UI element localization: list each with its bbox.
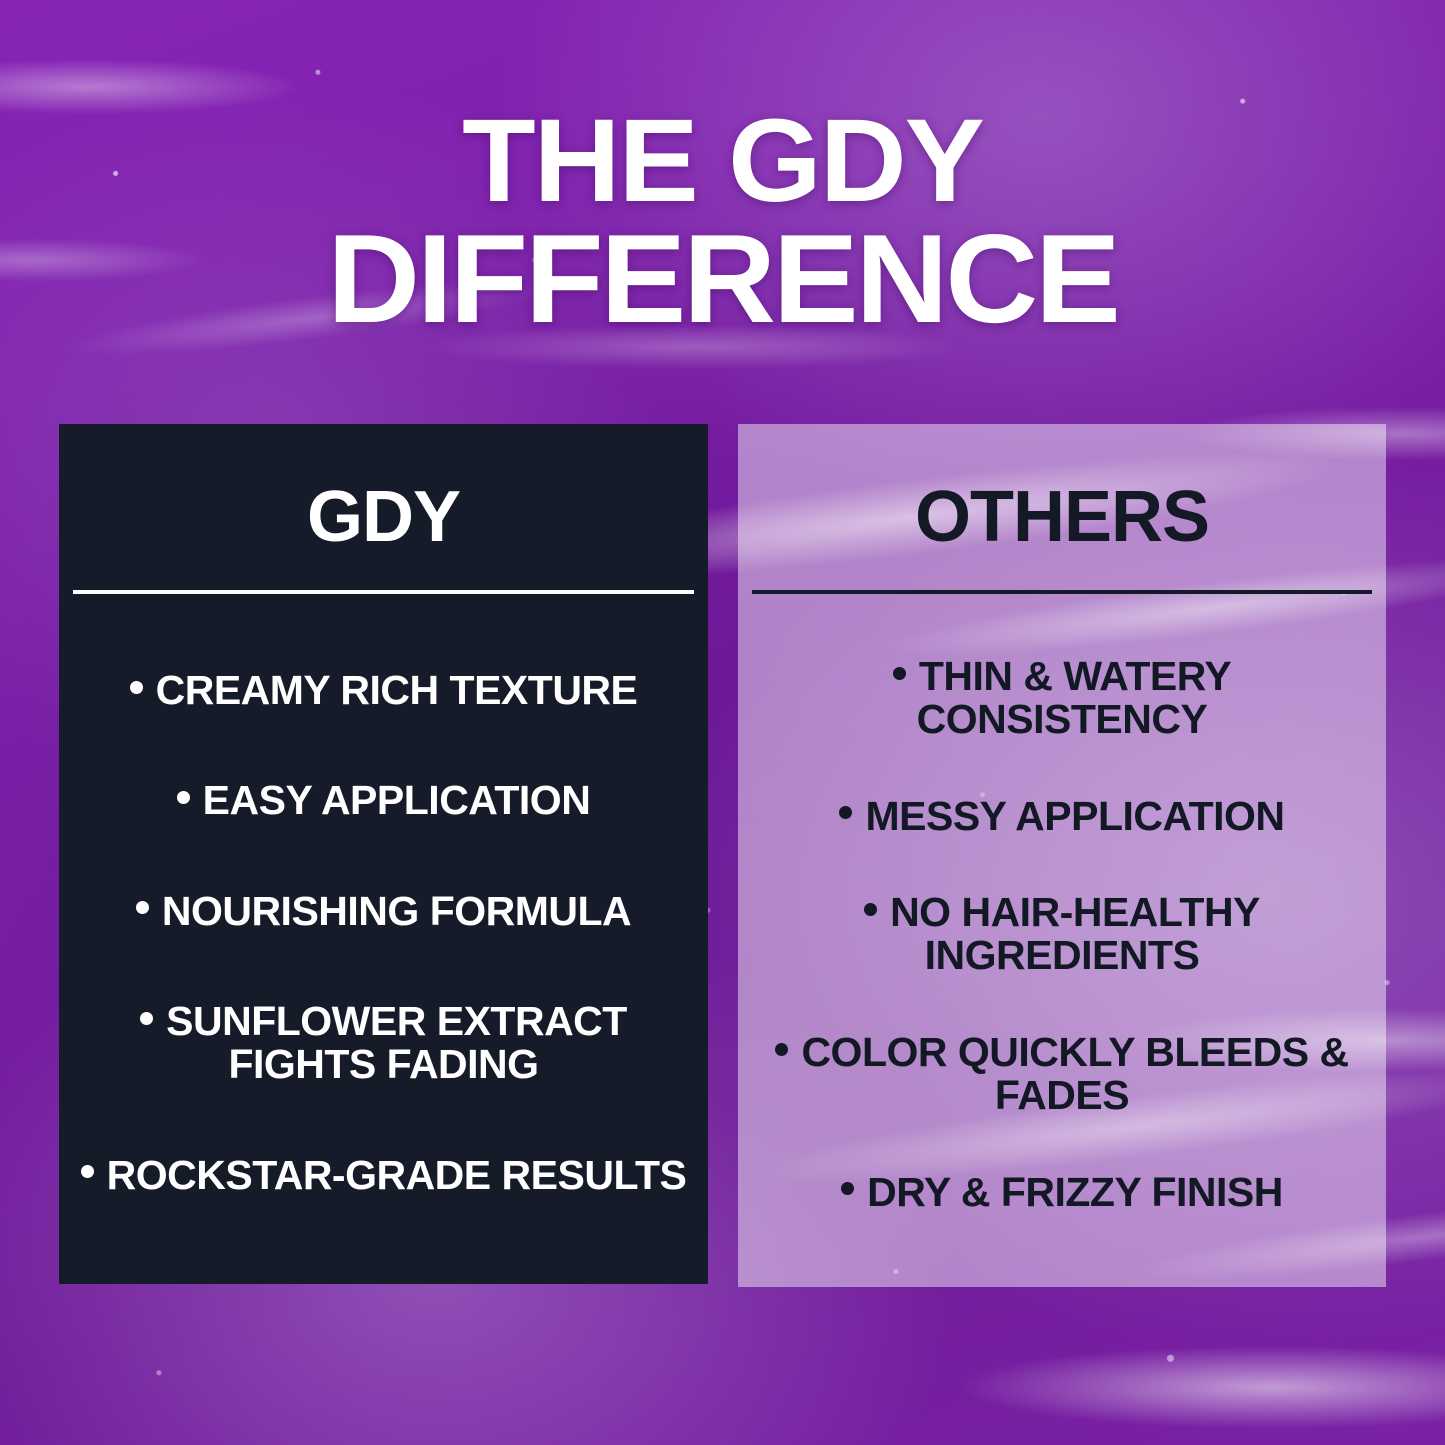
- list-item-label: CREAMY RICH TEXTURE: [156, 667, 638, 713]
- panel-title-gdy: GDY: [73, 476, 694, 558]
- page-title: THE GDY DIFFERENCE: [0, 104, 1445, 341]
- bullet-dot-icon: [130, 681, 143, 694]
- list-item-label: NO HAIR-HEALTHY INGREDIENTS: [890, 889, 1260, 978]
- list-item: DRY & FRIZZY FINISH: [758, 1171, 1366, 1214]
- list-item: THIN & WATERY CONSISTENCY: [758, 655, 1366, 742]
- list-item-label: NOURISHING FORMULA: [162, 888, 631, 934]
- bullet-dot-icon: [81, 1165, 94, 1178]
- list-item-label: ROCKSTAR-GRADE RESULTS: [107, 1152, 687, 1198]
- bullet-dot-icon: [841, 1182, 854, 1195]
- comparison-panel-others: OTHERS THIN & WATERY CONSISTENCY MESSY A…: [738, 424, 1386, 1287]
- list-item: NOURISHING FORMULA: [79, 890, 688, 933]
- list-item: SUNFLOWER EXTRACT FIGHTS FADING: [79, 1000, 688, 1087]
- page-title-line-2: DIFFERENCE: [0, 218, 1445, 340]
- page-title-line-1: THE GDY: [462, 95, 983, 227]
- list-item-label: DRY & FRIZZY FINISH: [867, 1169, 1283, 1215]
- list-item-label: SUNFLOWER EXTRACT FIGHTS FADING: [166, 998, 627, 1087]
- bullet-dot-icon: [177, 791, 190, 804]
- list-item: ROCKSTAR-GRADE RESULTS: [79, 1154, 688, 1197]
- panel-title-others: OTHERS: [752, 476, 1372, 558]
- list-item: NO HAIR-HEALTHY INGREDIENTS: [758, 891, 1366, 978]
- promo-graphic: THE GDY DIFFERENCE GDY CREAMY RICH TEXTU…: [0, 0, 1445, 1445]
- bullet-dot-icon: [893, 667, 906, 680]
- list-item: CREAMY RICH TEXTURE: [79, 669, 688, 712]
- bullet-dot-icon: [140, 1012, 153, 1025]
- bullet-dot-icon: [136, 901, 149, 914]
- drawback-list-others: THIN & WATERY CONSISTENCY MESSY APPLICAT…: [752, 594, 1372, 1287]
- list-item: EASY APPLICATION: [79, 779, 688, 822]
- list-item: COLOR QUICKLY BLEEDS & FADES: [758, 1031, 1366, 1118]
- bullet-dot-icon: [839, 806, 852, 819]
- bullet-dot-icon: [775, 1043, 788, 1056]
- bullet-dot-icon: [864, 903, 877, 916]
- list-item-label: THIN & WATERY CONSISTENCY: [917, 653, 1232, 742]
- list-item-label: MESSY APPLICATION: [865, 793, 1284, 839]
- list-item-label: COLOR QUICKLY BLEEDS & FADES: [801, 1029, 1348, 1118]
- benefit-list-gdy: CREAMY RICH TEXTURE EASY APPLICATION NOU…: [73, 594, 694, 1284]
- comparison-panel-gdy: GDY CREAMY RICH TEXTURE EASY APPLICATION…: [59, 424, 708, 1284]
- list-item-label: EASY APPLICATION: [203, 777, 591, 823]
- list-item: MESSY APPLICATION: [758, 795, 1366, 838]
